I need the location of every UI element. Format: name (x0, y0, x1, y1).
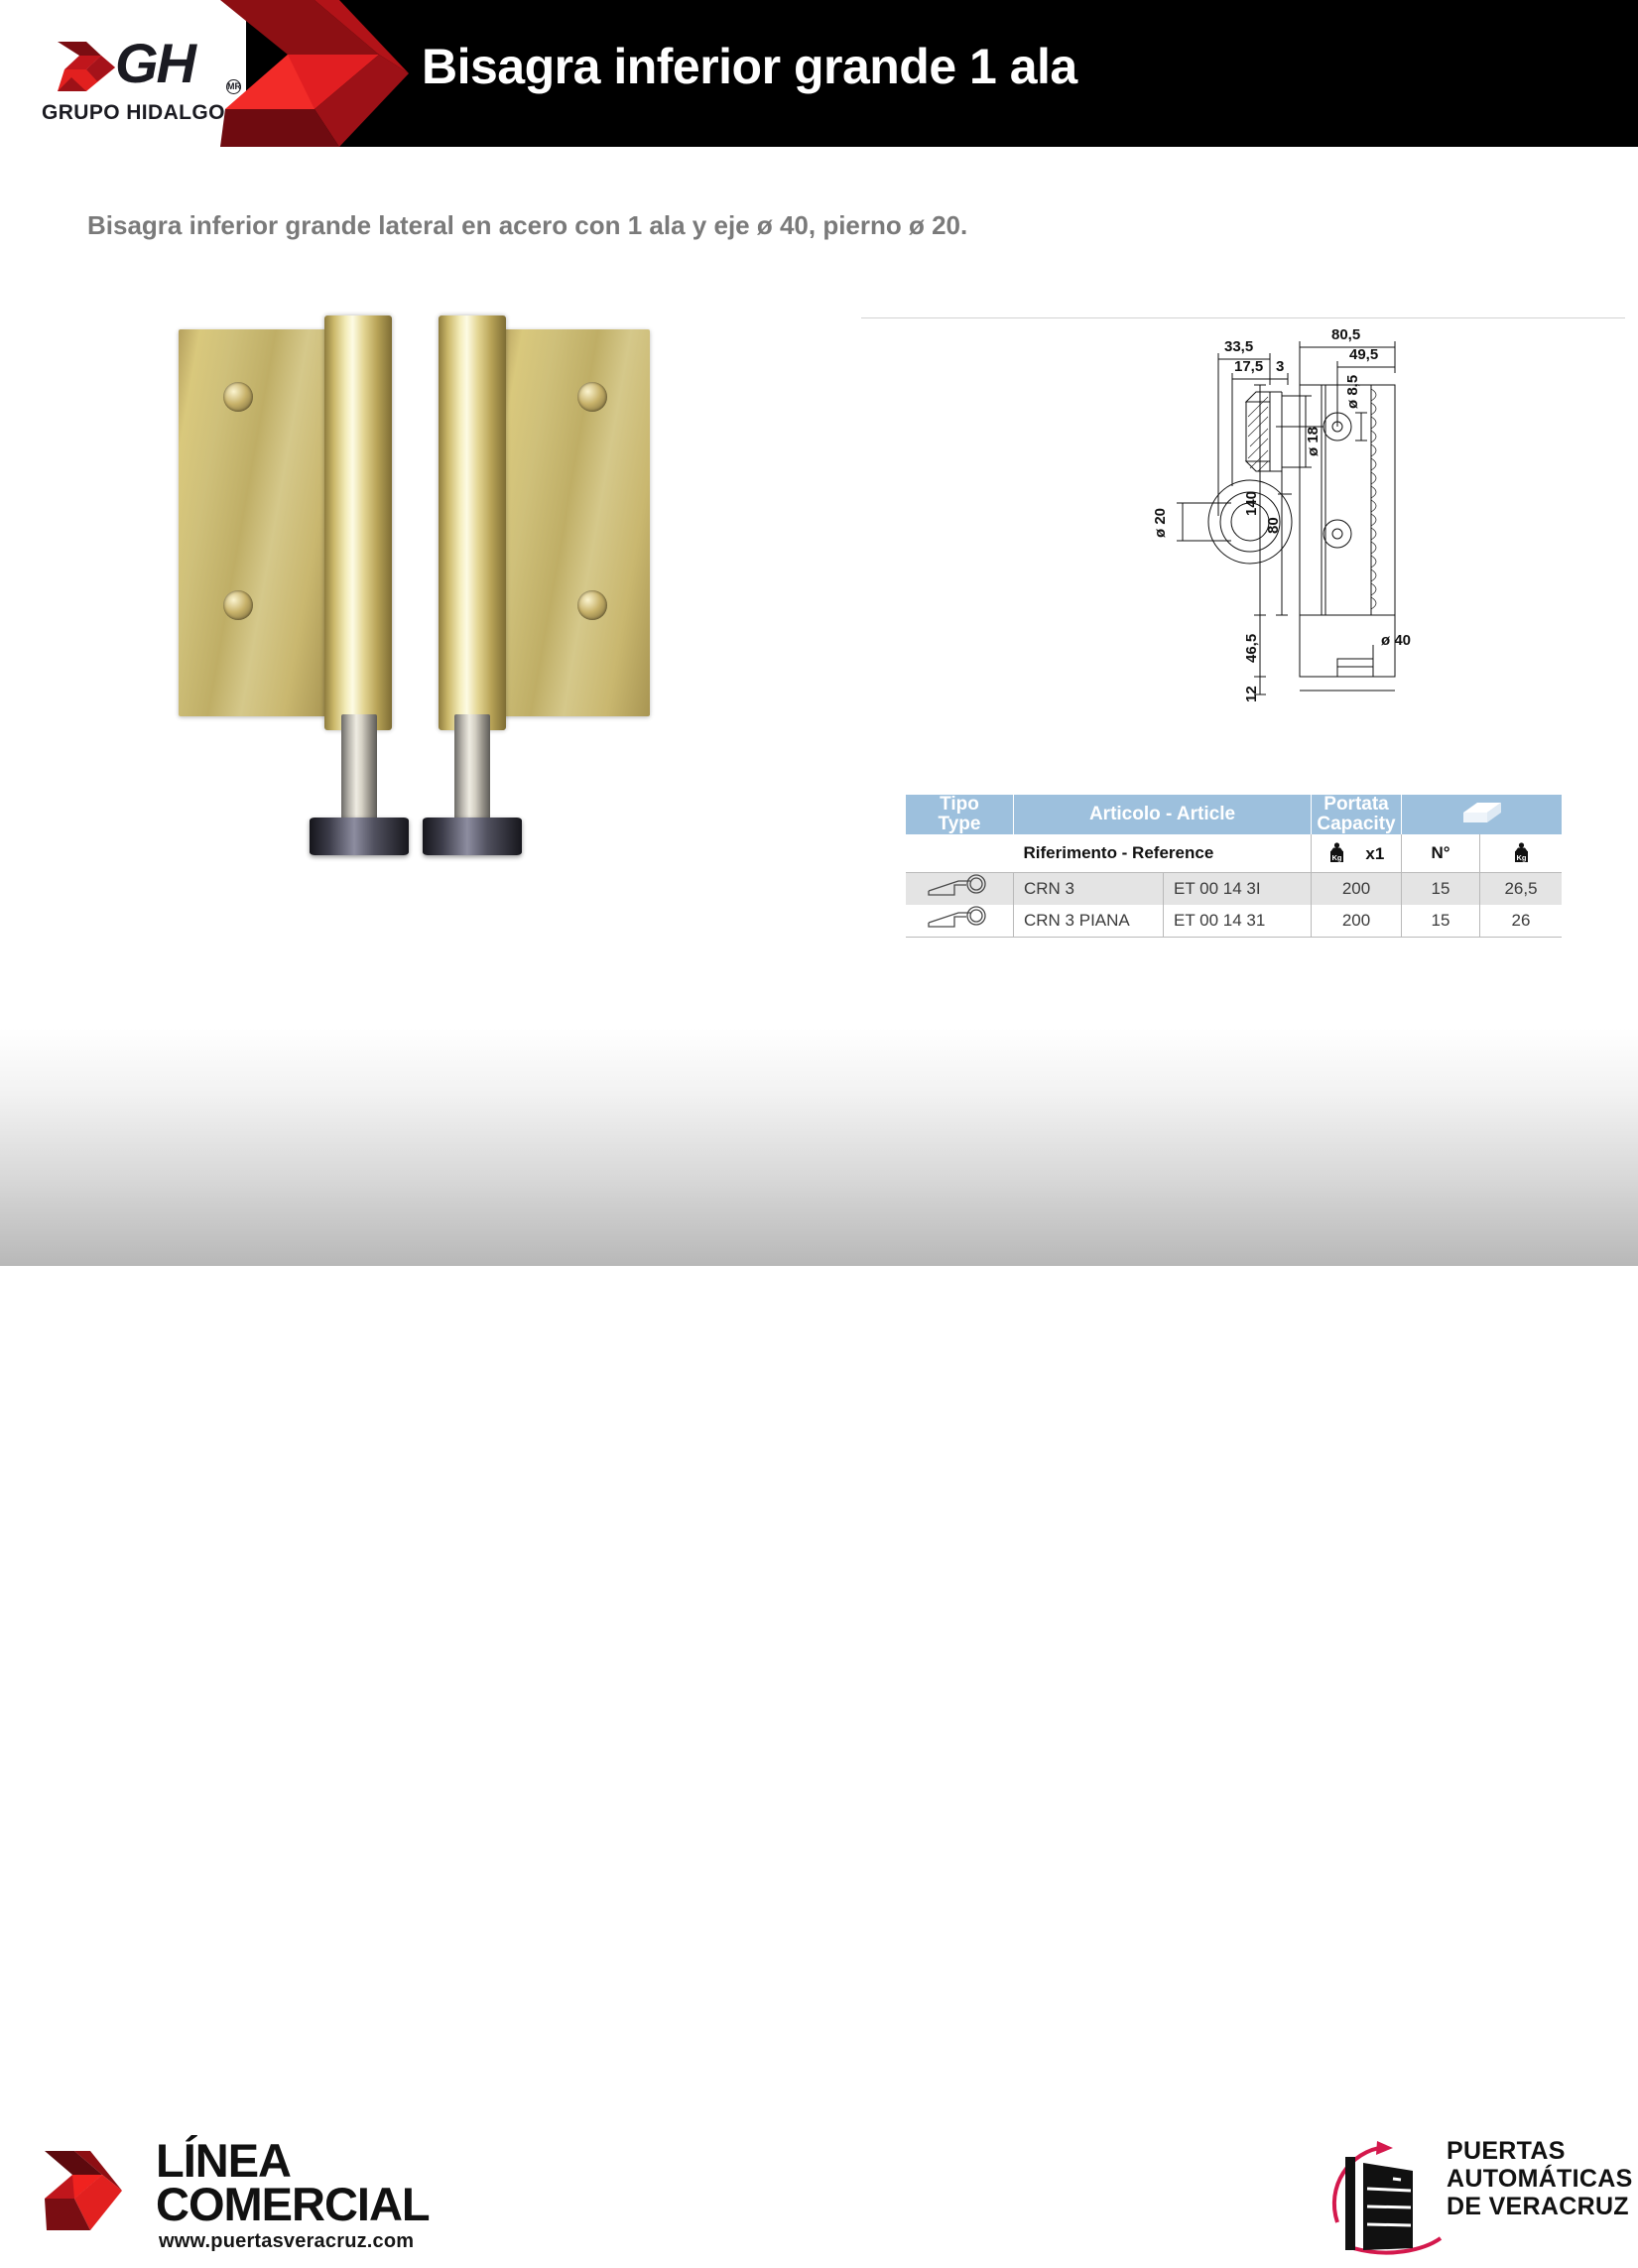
table-row[interactable]: CRN 3 PIANA ET 00 14 31 200 15 26 (906, 905, 1562, 938)
automatic-door-icon (1320, 2131, 1444, 2255)
dim-80-5: 80,5 (1331, 326, 1360, 343)
dim-o8-5: ø 8,5 (1344, 375, 1361, 409)
th-capacity-line1: Portata (1312, 795, 1401, 815)
hinge-profile-icon (925, 905, 994, 931)
dim-12: 12 (1243, 686, 1260, 702)
table-subheader-row: Riferimento - Reference Kg x1 N° Kg (906, 834, 1562, 873)
sub-type-empty (906, 834, 1014, 873)
product-description: Bisagra inferior grande lateral en acero… (87, 210, 967, 241)
hinge-plate (501, 329, 650, 716)
th-article: Articolo - Article (1014, 795, 1312, 834)
pav-line1: PUERTAS (1447, 2137, 1566, 2166)
gh-wordmark: GH (115, 36, 194, 91)
svg-text:Kg: Kg (1516, 853, 1526, 862)
hinge-hole (577, 590, 607, 620)
footer-url[interactable]: www.puertasveracruz.com (159, 2230, 414, 2253)
row-reference: ET 00 14 3I (1164, 872, 1312, 905)
th-type-line2: Type (906, 815, 1013, 834)
hinge-pin (341, 714, 377, 833)
dim-o40: ø 40 (1381, 632, 1411, 649)
row-pack-qty: 15 (1402, 872, 1480, 905)
th-package (1402, 795, 1563, 834)
dim-46-5: 46,5 (1243, 634, 1260, 663)
th-type: Tipo Type (906, 795, 1014, 834)
row-capacity: 200 (1312, 905, 1402, 938)
red-arrow-graphic (220, 0, 409, 147)
th-capacity-line2: Capacity (1312, 815, 1401, 834)
page-header: GH MR GRUPO HIDALGO Bisagra inferior gra… (0, 0, 1638, 147)
dim-33-5: 33,5 (1224, 338, 1253, 355)
grupo-hidalgo-subtitle: GRUPO HIDALGO (42, 101, 225, 125)
svg-text:Kg: Kg (1331, 853, 1341, 862)
hinge-barrel (324, 315, 392, 730)
sub-capacity: Kg x1 (1312, 834, 1402, 873)
row-pack-qty: 15 (1402, 905, 1480, 938)
grupo-hidalgo-logo: GH MR GRUPO HIDALGO (38, 20, 236, 129)
gh-chevron-icon (58, 38, 115, 95)
row-reference: ET 00 14 31 (1164, 905, 1312, 938)
row-article: CRN 3 PIANA (1014, 905, 1164, 938)
th-article-label: Articolo - Article (1014, 805, 1311, 824)
row-capacity: 200 (1312, 872, 1402, 905)
hinge-barrel (439, 315, 506, 730)
hinge-profile-icon (925, 873, 994, 899)
dim-80: 80 (1265, 517, 1282, 534)
linea-comercial-logo: LÍNEA COMERCIAL www.puertasveracruz.com (45, 2137, 471, 2266)
page-title: Bisagra inferior grande 1 ala (422, 38, 1077, 95)
hinge-foot (423, 818, 522, 855)
box-icon (1459, 795, 1505, 828)
page-footer: LÍNEA COMERCIAL www.puertasveracruz.com … (0, 1028, 1638, 1266)
sub-multiplier: x1 (1365, 844, 1384, 863)
dim-49-5: 49,5 (1349, 346, 1378, 363)
weight-kg-icon: Kg (1513, 842, 1530, 863)
hinge-hole (577, 382, 607, 412)
row-article: CRN 3 (1014, 872, 1164, 905)
row-type-icon-cell (906, 872, 1014, 905)
dim-o18: ø 18 (1305, 427, 1322, 456)
dim-140: 140 (1243, 491, 1260, 516)
hinge-plate (179, 329, 327, 716)
table-header-row: Tipo Type Articolo - Article Portata Cap… (906, 795, 1562, 834)
sub-reference: Riferimento - Reference (1014, 834, 1312, 873)
row-pack-weight: 26 (1480, 905, 1563, 938)
sub-pack-weight: Kg (1480, 834, 1563, 873)
lc-chevron-icon (45, 2145, 136, 2236)
sub-number: N° (1402, 834, 1480, 873)
dim-3: 3 (1276, 358, 1284, 375)
puertas-automaticas-logo: PUERTAS AUTOMÁTICAS DE VERACRUZ (1320, 2139, 1637, 2268)
weight-kg-icon: Kg (1328, 842, 1345, 863)
hinge-hole (223, 590, 253, 620)
th-type-line1: Tipo (906, 795, 1013, 815)
dim-o20: ø 20 (1152, 508, 1169, 538)
hinge-pin (454, 714, 490, 833)
hinge-foot (310, 818, 409, 855)
hinge-hole (223, 382, 253, 412)
row-pack-weight: 26,5 (1480, 872, 1563, 905)
th-capacity: Portata Capacity (1312, 795, 1402, 834)
technical-drawing: 33,5 17,5 3 ø 18 ø 20 80,5 49,5 ø 8,5 14… (1111, 317, 1508, 734)
row-type-icon-cell (906, 905, 1014, 938)
pav-line3: DE VERACRUZ (1447, 2193, 1629, 2221)
dim-17-5: 17,5 (1234, 358, 1263, 375)
pav-line2: AUTOMÁTICAS (1447, 2165, 1633, 2194)
table-row[interactable]: CRN 3 ET 00 14 3I 200 15 26,5 (906, 872, 1562, 905)
product-photo (119, 288, 853, 903)
specification-table: Tipo Type Articolo - Article Portata Cap… (906, 795, 1562, 938)
lc-line2: COMERCIAL (156, 2177, 430, 2231)
